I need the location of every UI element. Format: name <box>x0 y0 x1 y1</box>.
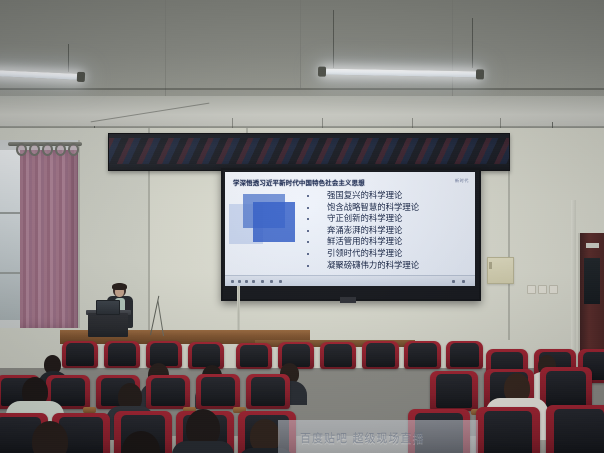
slide-bullet-item: 引领时代的科学理论 <box>303 248 471 260</box>
seat[interactable] <box>430 371 478 411</box>
seat[interactable] <box>446 341 483 369</box>
light-switch[interactable] <box>527 285 536 294</box>
window-curtain[interactable] <box>20 150 78 328</box>
light-switch[interactable] <box>538 285 547 294</box>
slide-logo: 新时代 <box>455 178 469 184</box>
watermark-text: 百度贴吧 超级现场直播 <box>300 430 425 447</box>
presentation-slide: 学深悟透习近平新时代中国特色社会主义思想 新时代 强国复兴的科学理论 饱含战略智… <box>225 172 475 286</box>
seat[interactable] <box>546 405 604 453</box>
slide-bullet-item: 奔涌澎湃的科学理论 <box>303 225 471 237</box>
seat[interactable] <box>146 375 190 409</box>
seat[interactable] <box>320 342 356 369</box>
door-sign <box>586 243 599 248</box>
seat[interactable] <box>246 374 290 409</box>
presenter-hair <box>112 283 127 290</box>
led-banner <box>108 133 510 171</box>
ceiling-soffit <box>0 96 604 130</box>
slide-graphic-rect-front <box>253 202 295 242</box>
projection-screen[interactable]: 学深悟透习近平新时代中国特色社会主义思想 新时代 强国复兴的科学理论 饱含战略智… <box>221 168 481 301</box>
seat[interactable] <box>196 374 240 409</box>
slide-bullet-list: 强国复兴的科学理论 饱含战略智慧的科学理论 守正创新的科学理论 奔涌澎湃的科学理… <box>303 190 471 286</box>
led-banner-sheen <box>109 134 509 170</box>
slide-bullet-item: 守正创新的科学理论 <box>303 213 471 225</box>
slide-bullet-item: 饱含战略智慧的科学理论 <box>303 202 471 214</box>
seat[interactable] <box>188 342 224 369</box>
slide-bullet-item: 鲜活管用的科学理论 <box>303 236 471 248</box>
slide-bullet-item: 凝聚磅礴伟力的科学理论 <box>303 260 471 272</box>
seat[interactable] <box>236 343 272 369</box>
seat[interactable] <box>104 341 140 368</box>
seat[interactable] <box>62 341 98 368</box>
light-switch[interactable] <box>549 285 558 294</box>
laptop[interactable] <box>96 300 120 315</box>
slide-title: 学深悟透习近平新时代中国特色社会主义思想 <box>233 178 365 187</box>
door-window <box>584 258 600 304</box>
slide-bullet-item: 强国复兴的科学理论 <box>303 190 471 202</box>
seat[interactable] <box>476 407 540 453</box>
seat[interactable] <box>362 341 399 369</box>
screen-mount <box>340 297 356 303</box>
slide-taskbar[interactable] <box>225 275 475 286</box>
podium <box>88 313 128 337</box>
wall-sign-bracket <box>489 262 492 269</box>
seat[interactable] <box>404 341 441 369</box>
lecture-hall-photo: 学深悟透习近平新时代中国特色社会主义思想 新时代 强国复兴的科学理论 饱含战略智… <box>0 0 604 453</box>
